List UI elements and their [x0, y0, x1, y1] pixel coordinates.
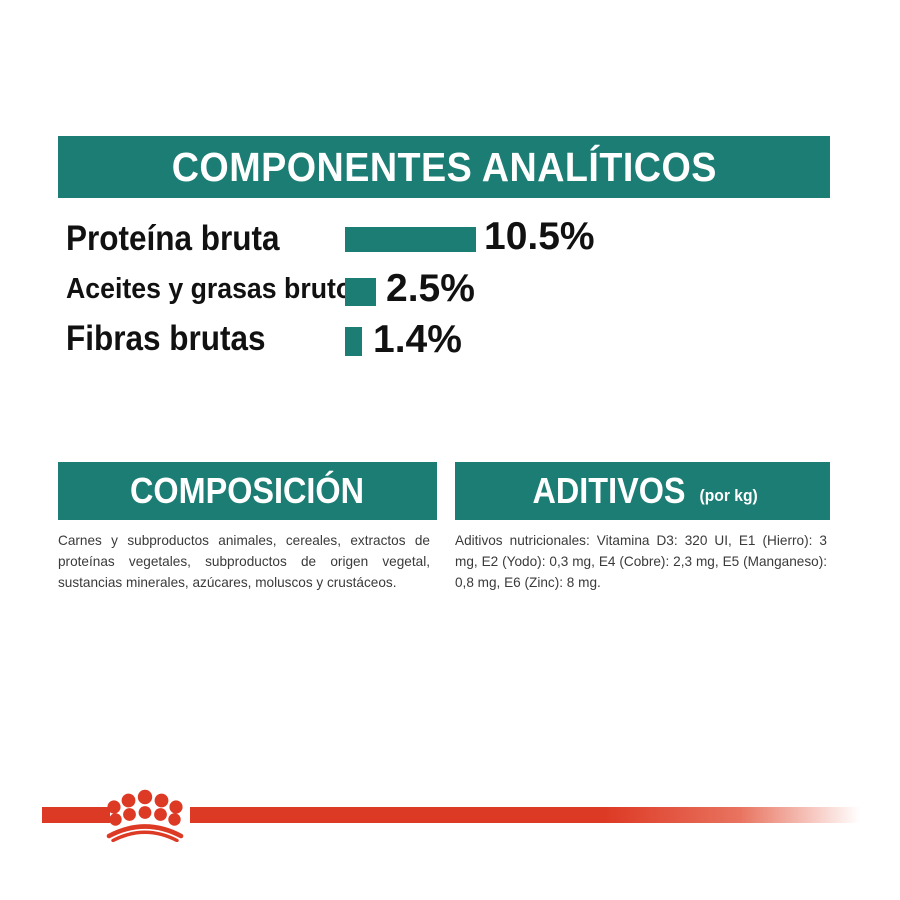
royal-canin-crown-icon: [103, 786, 187, 842]
analytic-row: Aceites y grasas brutos 2.5%: [66, 264, 766, 314]
additives-heading-unit: (por kg): [700, 486, 758, 506]
analytic-label: Proteína bruta: [66, 214, 280, 264]
analytic-bar: [345, 327, 362, 356]
analytic-value: 2.5%: [386, 264, 475, 314]
additives-body-text: Aditivos nutricionales: Vitamina D3: 320…: [455, 530, 827, 593]
composition-heading: COMPOSICIÓN: [130, 470, 364, 512]
analytic-label: Aceites y grasas brutos: [66, 264, 367, 314]
additives-heading: ADITIVOS: [533, 470, 686, 512]
analytic-row: Fibras brutas 1.4%: [66, 314, 766, 364]
analytic-bar: [345, 278, 376, 306]
analytical-components-banner: COMPONENTES ANALÍTICOS: [58, 136, 830, 198]
footer-rule-right: [190, 807, 860, 823]
analytic-row: Proteína bruta 10.5%: [66, 214, 766, 264]
composition-section: COMPOSICIÓN Carnes y subproductos animal…: [58, 462, 437, 593]
footer-rule-left: [42, 807, 110, 823]
composition-heading-banner: COMPOSICIÓN: [58, 462, 437, 520]
analytic-bar: [345, 227, 476, 252]
nutrition-label-page: COMPONENTES ANALÍTICOS Proteína bruta 10…: [0, 0, 900, 900]
additives-section: ADITIVOS (por kg) Aditivos nutricionales…: [455, 462, 830, 593]
analytic-value: 1.4%: [373, 315, 462, 365]
analytical-components-chart: Proteína bruta 10.5% Aceites y grasas br…: [66, 214, 766, 364]
analytic-value: 10.5%: [484, 212, 595, 262]
additives-heading-banner: ADITIVOS (por kg): [455, 462, 830, 520]
footer: [0, 798, 900, 858]
banner-title: COMPONENTES ANALÍTICOS: [171, 144, 716, 191]
composition-body-text: Carnes y subproductos animales, cereales…: [58, 530, 430, 593]
analytic-label: Fibras brutas: [66, 314, 266, 364]
